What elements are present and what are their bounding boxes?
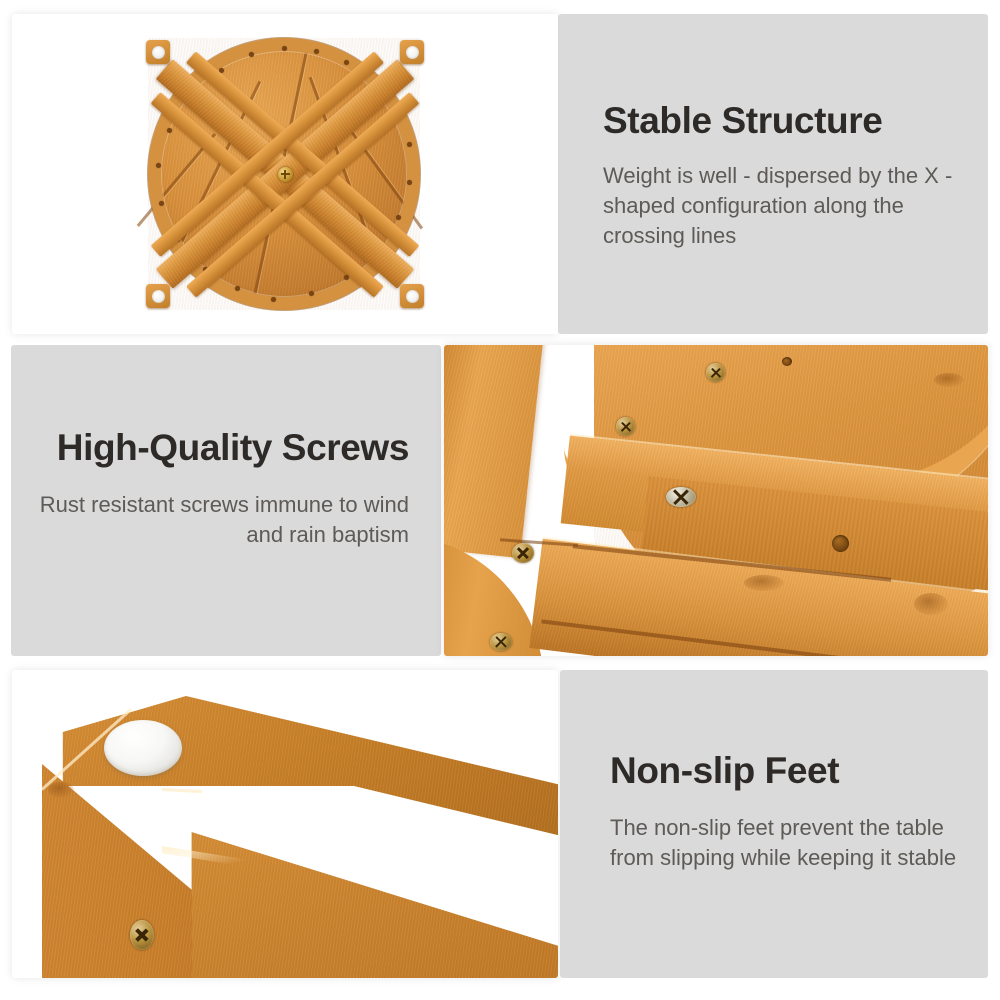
rim-bolt-hole bbox=[167, 128, 172, 133]
non-slip-feet-description: The non-slip feet prevent the table from… bbox=[610, 813, 958, 873]
stable-structure-photo-panel bbox=[12, 14, 558, 334]
non-slip-foot-cap bbox=[406, 290, 419, 303]
leg-end-with-foot-cap bbox=[146, 284, 170, 308]
pilot-bore-hole bbox=[832, 535, 849, 552]
rim-bolt-hole bbox=[344, 60, 349, 65]
wood-knot bbox=[744, 575, 784, 591]
high-quality-screws-copy-block: High-Quality Screws Rust resistant screw… bbox=[11, 427, 441, 550]
leg-corner-edge bbox=[162, 788, 202, 793]
rim-bolt-hole bbox=[235, 286, 240, 291]
stable-structure-description: Weight is well - dispersed by the X - sh… bbox=[603, 161, 960, 251]
stable-structure-text-panel: Stable Structure Weight is well - disper… bbox=[558, 14, 988, 334]
non-slip-foot-cap bbox=[152, 46, 165, 59]
non-slip-foot-illustration bbox=[12, 670, 558, 978]
screw-closeup-illustration bbox=[444, 345, 988, 656]
center-pivot-screw bbox=[278, 167, 293, 182]
rim-bolt-hole bbox=[159, 201, 164, 206]
non-slip-feet-photo-panel bbox=[12, 670, 558, 978]
phillips-screw bbox=[490, 633, 512, 651]
product-feature-infographic: Stable Structure Weight is well - disper… bbox=[0, 0, 1000, 1000]
high-quality-screws-photo-panel bbox=[444, 345, 988, 656]
non-slip-feet-copy-block: Non-slip Feet The non-slip feet prevent … bbox=[560, 750, 988, 873]
phillips-screw bbox=[512, 543, 534, 563]
pilot-bore-hole bbox=[782, 357, 792, 366]
rim-bolt-hole bbox=[407, 180, 412, 185]
rim-bolt-hole bbox=[249, 52, 254, 57]
rim-bolt-hole bbox=[282, 46, 287, 51]
non-slip-foot-cap bbox=[406, 46, 419, 59]
high-quality-screws-description: Rust resistant screws immune to wind and… bbox=[39, 490, 409, 550]
wood-grain-texture bbox=[444, 345, 543, 558]
rim-bolt-hole bbox=[396, 215, 401, 220]
non-slip-feet-text-panel: Non-slip Feet The non-slip feet prevent … bbox=[560, 670, 988, 978]
non-slip-foot-cap bbox=[152, 290, 165, 303]
phillips-screw bbox=[706, 363, 725, 382]
rim-bolt-hole bbox=[156, 163, 161, 168]
rim-bolt-hole bbox=[407, 142, 412, 147]
non-slip-foot-cap bbox=[104, 720, 182, 776]
phillips-screw bbox=[666, 487, 696, 507]
stable-structure-heading: Stable Structure bbox=[603, 100, 960, 141]
table-underside-illustration bbox=[130, 24, 440, 324]
phillips-screw bbox=[616, 417, 635, 436]
brass-screw bbox=[130, 920, 154, 950]
table-leg-post bbox=[444, 345, 543, 558]
rim-bolt-hole bbox=[309, 291, 314, 296]
leg-end-with-foot-cap bbox=[400, 284, 424, 308]
high-quality-screws-text-panel: High-Quality Screws Rust resistant screw… bbox=[11, 345, 441, 656]
wood-knot bbox=[914, 593, 948, 615]
wood-knot bbox=[48, 782, 74, 798]
stable-structure-copy-block: Stable Structure Weight is well - disper… bbox=[558, 100, 988, 251]
rim-bolt-hole bbox=[271, 297, 276, 302]
non-slip-feet-heading: Non-slip Feet bbox=[610, 750, 958, 791]
leg-end-with-foot-cap bbox=[400, 40, 424, 64]
rim-bolt-hole bbox=[314, 49, 319, 54]
high-quality-screws-heading: High-Quality Screws bbox=[39, 427, 409, 468]
wood-knot bbox=[934, 373, 964, 387]
leg-end-with-foot-cap bbox=[146, 40, 170, 64]
